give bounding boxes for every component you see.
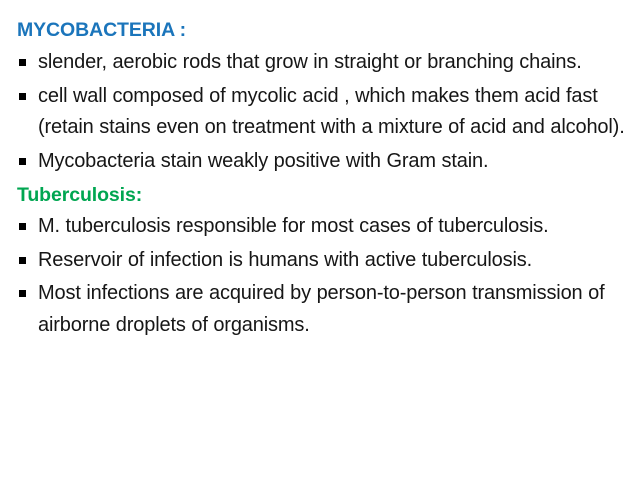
square-bullet-icon xyxy=(19,257,26,264)
list-item-text: Mycobacteria stain weakly positive with … xyxy=(38,146,626,178)
slide-content-body: MYCOBACTERIA : slender, aerobic rods tha… xyxy=(14,16,626,341)
bullet-list-mycobacteria: slender, aerobic rods that grow in strai… xyxy=(14,47,626,177)
square-bullet-icon xyxy=(19,158,26,165)
list-item: slender, aerobic rods that grow in strai… xyxy=(14,47,626,79)
list-item-text: Most infections are acquired by person-t… xyxy=(38,278,626,341)
bullet-list-tuberculosis: M. tuberculosis responsible for most cas… xyxy=(14,211,626,341)
square-bullet-icon xyxy=(19,290,26,297)
square-bullet-icon xyxy=(19,93,26,100)
list-item: M. tuberculosis responsible for most cas… xyxy=(14,211,626,243)
list-item-text: M. tuberculosis responsible for most cas… xyxy=(38,211,626,243)
list-item: cell wall composed of mycolic acid , whi… xyxy=(14,81,626,144)
list-item: Most infections are acquired by person-t… xyxy=(14,278,626,341)
slide-canvas: MYCOBACTERIA : slender, aerobic rods tha… xyxy=(0,0,640,480)
list-item-text: slender, aerobic rods that grow in strai… xyxy=(38,47,626,79)
section-heading-mycobacteria: MYCOBACTERIA : xyxy=(14,16,626,44)
square-bullet-icon xyxy=(19,223,26,230)
list-item-text: cell wall composed of mycolic acid , whi… xyxy=(38,81,626,144)
section-heading-tuberculosis: Tuberculosis: xyxy=(14,181,626,209)
list-item: Reservoir of infection is humans with ac… xyxy=(14,245,626,277)
list-item-text: Reservoir of infection is humans with ac… xyxy=(38,245,626,277)
square-bullet-icon xyxy=(19,59,26,66)
list-item: Mycobacteria stain weakly positive with … xyxy=(14,146,626,178)
